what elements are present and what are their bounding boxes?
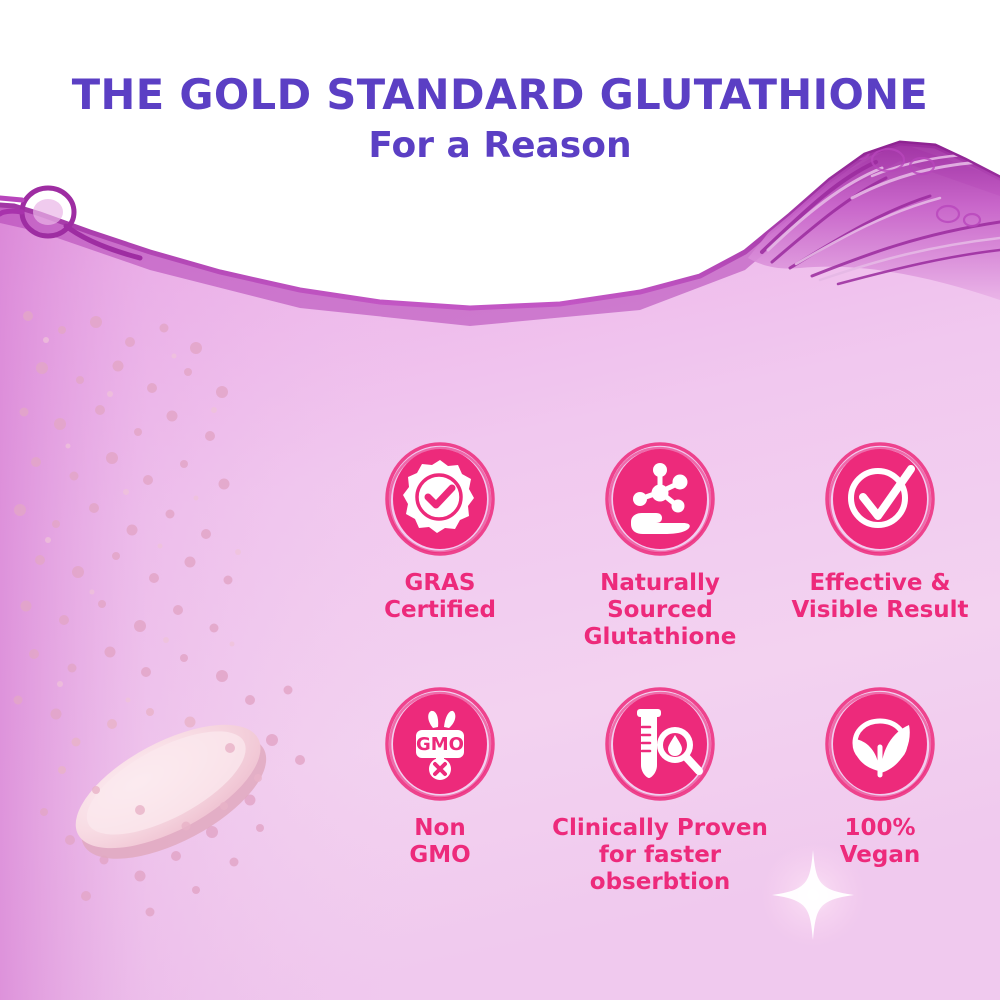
badge-gras-certified[interactable]: GRAS Certified bbox=[330, 440, 550, 685]
seal-check-icon bbox=[381, 440, 499, 558]
badge-label: Clinically Proven for faster obserbtion bbox=[550, 815, 770, 896]
badge-naturally-sourced[interactable]: Naturally Sourced Glutathione bbox=[550, 440, 770, 685]
page-title: THE GOLD STANDARD GLUTATHIONE bbox=[5, 74, 995, 116]
badge-clinically-proven[interactable]: Clinically Proven for faster obserbtion bbox=[550, 685, 770, 925]
badge-label: Naturally Sourced Glutathione bbox=[550, 570, 770, 651]
badge-label: Non GMO bbox=[409, 815, 470, 869]
badge-label: GRAS Certified bbox=[384, 570, 496, 624]
promo-banner: THE GOLD STANDARD GLUTATHIONE For a Reas… bbox=[0, 0, 1000, 1000]
badge-label: Effective & Visible Result bbox=[791, 570, 968, 624]
badge-effective-visible[interactable]: Effective & Visible Result bbox=[770, 440, 990, 685]
leaf-vegan-icon bbox=[821, 685, 939, 803]
page-subtitle: For a Reason bbox=[0, 128, 1000, 164]
badge-vegan[interactable]: 100% Vegan bbox=[770, 685, 990, 925]
badge-non-gmo[interactable]: GMO Non GMO bbox=[330, 685, 550, 925]
circle-check-icon bbox=[821, 440, 939, 558]
molecule-hand-icon bbox=[601, 440, 719, 558]
non-gmo-icon: GMO bbox=[381, 685, 499, 803]
badge-label: 100% Vegan bbox=[840, 815, 921, 869]
svg-text:GMO: GMO bbox=[416, 734, 464, 755]
feature-badge-grid: GRAS Certified bbox=[330, 440, 990, 925]
test-tube-search-icon bbox=[601, 685, 719, 803]
headline-block: THE GOLD STANDARD GLUTATHIONE For a Reas… bbox=[0, 74, 1000, 164]
